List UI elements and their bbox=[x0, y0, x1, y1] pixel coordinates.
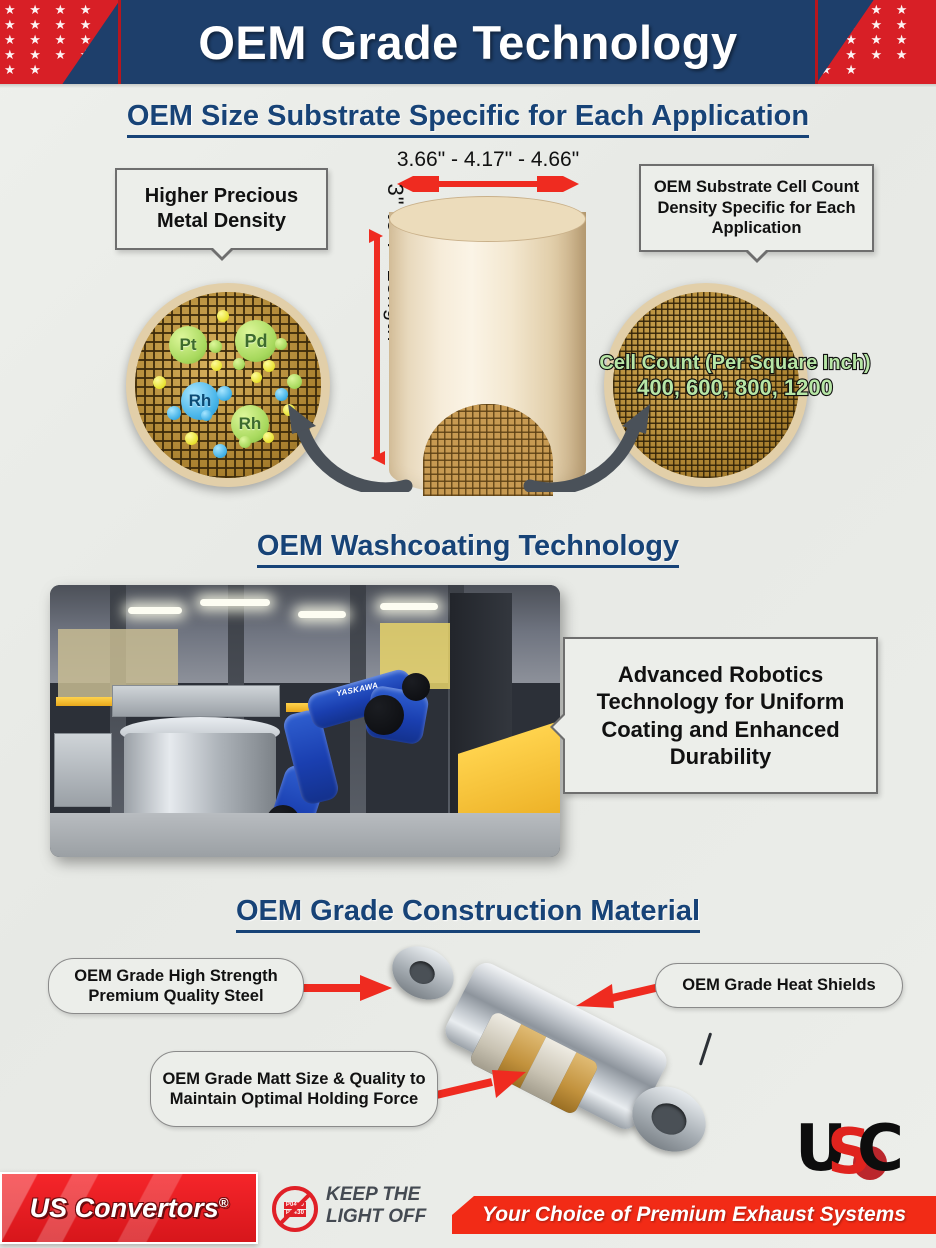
arrow-to-heat-shield-icon bbox=[572, 978, 666, 1010]
callout-text: OEM Substrate Cell Count Density Specifi… bbox=[641, 177, 872, 238]
label-text: OEM Grade Matt Size & Quality to Maintai… bbox=[151, 1069, 437, 1109]
section-heading-text: OEM Size Substrate Specific for Each App… bbox=[127, 100, 809, 138]
keep-light-line-1: KEEP THE bbox=[326, 1184, 426, 1206]
inlet-flange bbox=[383, 936, 463, 1010]
section-heading-text: OEM Washcoating Technology bbox=[257, 530, 679, 568]
curved-arrow-right-icon bbox=[520, 400, 652, 492]
diameter-label: 3.66" - 4.17" - 4.66" bbox=[378, 148, 598, 172]
ceiling-light bbox=[200, 599, 270, 606]
particle-rh-blue: Rh bbox=[181, 382, 219, 420]
keep-light-off-text: KEEP THE LIGHT OFF bbox=[326, 1184, 426, 1228]
registered-mark: ® bbox=[219, 1195, 229, 1210]
particle-dot bbox=[263, 432, 274, 443]
callout-tail bbox=[209, 248, 235, 261]
washcoating-photo: YASKAWA bbox=[50, 585, 560, 857]
callout-precious-metal-density: Higher Precious Metal Density bbox=[115, 168, 328, 250]
cell-count-title: Cell Count (Per Square Inch) bbox=[590, 352, 880, 375]
label-text: OEM Grade Heat Shields bbox=[682, 975, 875, 995]
cylinder-honeycomb-top bbox=[389, 196, 586, 242]
ceiling-light bbox=[128, 607, 182, 614]
tagline-banner: Your Choice of Premium Exhaust Systems bbox=[452, 1196, 936, 1234]
curved-arrow-left-icon bbox=[286, 400, 416, 492]
particle-dot bbox=[201, 410, 212, 421]
particle-dot bbox=[251, 372, 262, 383]
ceiling-light bbox=[380, 603, 438, 610]
particle-dot bbox=[287, 374, 302, 389]
section-heading-construction: OEM Grade Construction Material bbox=[0, 895, 936, 928]
particle-dot bbox=[153, 376, 166, 389]
particle-dot bbox=[209, 340, 222, 353]
arrow-to-steel-icon bbox=[300, 975, 392, 1001]
robot-gripper bbox=[402, 673, 430, 701]
equipment-frame bbox=[112, 685, 280, 717]
particle-dot bbox=[217, 310, 229, 322]
callout-tail bbox=[744, 250, 770, 263]
oxygen-sensor-icon bbox=[699, 1032, 712, 1065]
brand-name: US Convertors® bbox=[30, 1193, 229, 1224]
particle-dot bbox=[167, 406, 181, 420]
label-text: OEM Grade High Strength Premium Quality … bbox=[49, 966, 303, 1006]
robot-joint bbox=[364, 695, 404, 735]
arrow-to-matt-icon bbox=[430, 1068, 528, 1102]
section-heading-substrate: OEM Size Substrate Specific for Each App… bbox=[0, 100, 936, 133]
callout-text: Advanced Robotics Technology for Uniform… bbox=[565, 661, 876, 770]
section-heading-washcoating: OEM Washcoating Technology bbox=[0, 530, 936, 563]
callout-tail bbox=[550, 712, 565, 742]
particle-dot bbox=[233, 358, 245, 370]
particle-dot bbox=[217, 386, 232, 401]
particle-dot bbox=[211, 360, 222, 371]
us-convertors-logo: US Convertors® bbox=[0, 1172, 258, 1244]
keep-light-line-2: LIGHT OFF bbox=[326, 1206, 426, 1228]
flange-hole bbox=[646, 1097, 692, 1140]
particle-dot bbox=[239, 436, 251, 448]
particle-dot bbox=[263, 360, 275, 372]
label-premium-steel: OEM Grade High Strength Premium Quality … bbox=[48, 958, 304, 1014]
page-title: OEM Grade Technology bbox=[0, 0, 936, 84]
cell-count-label: Cell Count (Per Square Inch) 400, 600, 8… bbox=[590, 352, 880, 400]
no-symbol-icon: P0420 P0430 bbox=[272, 1186, 318, 1232]
photo-scene: YASKAWA bbox=[50, 585, 560, 857]
section-heading-text: OEM Grade Construction Material bbox=[236, 895, 700, 933]
tagline-text: Your Choice of Premium Exhaust Systems bbox=[482, 1203, 906, 1227]
particle-pt: Pt bbox=[169, 326, 207, 364]
particle-pd: Pd bbox=[235, 320, 277, 362]
callout-advanced-robotics: Advanced Robotics Technology for Uniform… bbox=[563, 637, 878, 794]
callout-text: Higher Precious Metal Density bbox=[117, 184, 326, 234]
header-banner: ★ ★ ★ ★ ★ ★ ★ ★ ★ ★ ★ ★ ★ ★ ★ ★ ★ ★ ★ ★ … bbox=[0, 0, 936, 84]
particle-dot bbox=[213, 444, 227, 458]
diameter-arrow-icon bbox=[393, 176, 583, 192]
label-matt-size: OEM Grade Matt Size & Quality to Maintai… bbox=[150, 1051, 438, 1127]
ceiling-light bbox=[298, 611, 346, 618]
cell-count-values: 400, 600, 800, 1200 bbox=[590, 375, 880, 400]
particle-dot bbox=[275, 338, 287, 350]
header-divider bbox=[0, 84, 936, 88]
keep-the-light-off-badge: P0420 P0430 KEEP THE LIGHT OFF bbox=[272, 1184, 437, 1234]
flange-hole bbox=[406, 957, 439, 988]
callout-cell-count-density: OEM Substrate Cell Count Density Specifi… bbox=[639, 164, 874, 252]
label-heat-shields: OEM Grade Heat Shields bbox=[655, 963, 903, 1008]
control-panel bbox=[54, 733, 112, 807]
brand-text: US Convertors bbox=[30, 1193, 219, 1223]
particle-dot bbox=[185, 432, 198, 445]
infographic-page: ★ ★ ★ ★ ★ ★ ★ ★ ★ ★ ★ ★ ★ ★ ★ ★ ★ ★ ★ ★ … bbox=[0, 0, 936, 1248]
factory-floor bbox=[50, 813, 560, 857]
